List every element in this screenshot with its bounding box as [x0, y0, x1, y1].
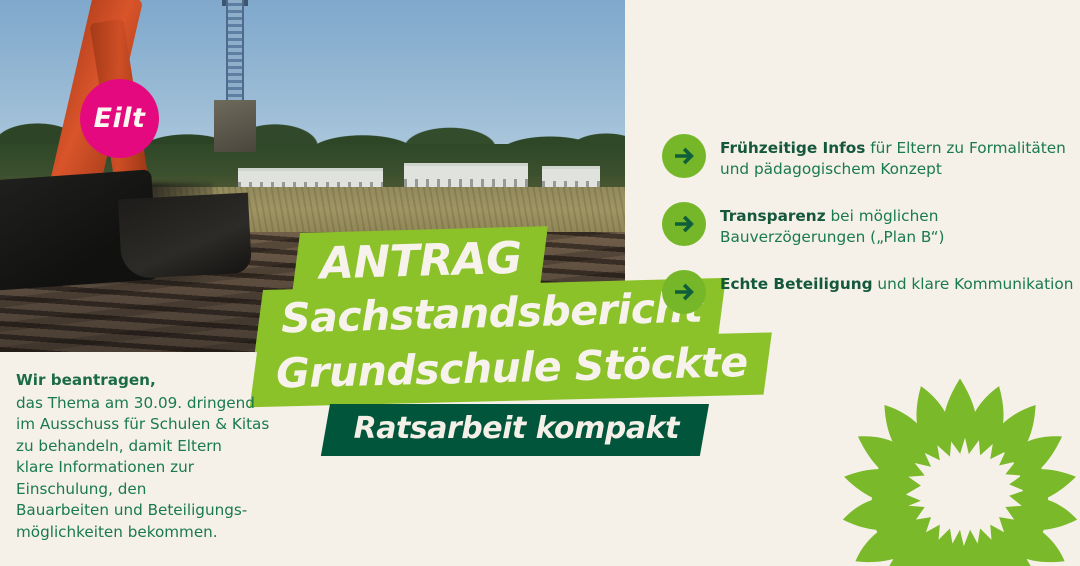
arrow-right-icon — [662, 270, 706, 314]
arrow-right-icon — [662, 202, 706, 246]
demands-list: Frühzeitige Infos für Eltern zu Formalit… — [662, 133, 1074, 314]
title-banner-grundschule: Grundschule Stöckte — [250, 332, 772, 407]
title-line-3: Grundschule Stöckte — [276, 338, 749, 398]
sunflower-logo-icon — [834, 376, 1080, 566]
list-item: Transparenz bei möglichen Bauverzögerung… — [662, 201, 1074, 248]
list-item-text: Transparenz bei möglichen Bauverzögerung… — [720, 201, 1074, 248]
list-item-text: Echte Beteiligung und klare Kommunikatio… — [720, 269, 1073, 295]
list-item-strong: Transparenz — [720, 207, 826, 225]
arrow-right-icon — [662, 134, 706, 178]
subtitle-banner: Ratsarbeit kompakt — [321, 404, 709, 456]
request-body: das Thema am 30.09. dringend im Ausschus… — [16, 393, 296, 544]
list-item-strong: Echte Beteiligung — [720, 275, 873, 293]
list-item: Frühzeitige Infos für Eltern zu Formalit… — [662, 133, 1074, 180]
list-item-text: Frühzeitige Infos für Eltern zu Formalit… — [720, 133, 1074, 180]
list-item-rest: und klare Kommunikation — [873, 275, 1074, 293]
poster-canvas: Eilt ANTRAG Sachstandsbericht Grundschul… — [0, 0, 1080, 566]
request-heading: Wir beantragen, — [16, 370, 296, 392]
subtitle-label: Ratsarbeit kompakt — [354, 411, 679, 446]
title-line-1: ANTRAG — [319, 233, 522, 290]
request-text-block: Wir beantragen, das Thema am 30.09. drin… — [16, 370, 296, 543]
list-item: Echte Beteiligung und klare Kommunikatio… — [662, 269, 1074, 314]
list-item-strong: Frühzeitige Infos — [720, 139, 865, 157]
title-line-2: Sachstandsbericht — [281, 284, 703, 343]
